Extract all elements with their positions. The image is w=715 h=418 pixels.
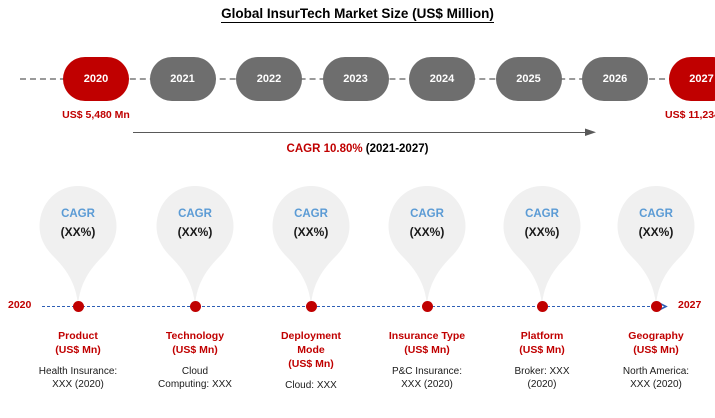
cagr-pin[interactable]: CAGR(XX%) bbox=[385, 183, 469, 305]
axis-marker-dot[interactable] bbox=[190, 301, 201, 312]
segment-axis: 2020 2027 bbox=[0, 298, 715, 320]
map-pin-icon bbox=[614, 183, 698, 305]
pin-text: CAGR(XX%) bbox=[36, 206, 120, 241]
segment-title: Technology(US$ Mn) bbox=[136, 330, 254, 358]
pin-cagr-label: CAGR bbox=[614, 206, 698, 223]
segment-detail: North America:XXX (2020) bbox=[597, 365, 715, 392]
pin-cagr-label: CAGR bbox=[385, 206, 469, 223]
cagr-pin[interactable]: CAGR(XX%) bbox=[36, 183, 120, 305]
timeline-year-2023[interactable]: 2023 bbox=[323, 57, 389, 101]
timeline-year-label: 2021 bbox=[170, 73, 194, 85]
timeline-year-2025[interactable]: 2025 bbox=[496, 57, 562, 101]
cagr-caption: CAGR 10.80% (2021-2027) bbox=[0, 143, 715, 155]
segment-column: Platform(US$ Mn)Broker: XXX(2020) bbox=[483, 330, 601, 392]
timeline-year-2027[interactable]: 2027 bbox=[669, 57, 715, 101]
cagr-arrow-line bbox=[133, 132, 588, 133]
timeline-start-value: US$ 5,480 Mn bbox=[36, 109, 156, 121]
axis-marker-dot[interactable] bbox=[651, 301, 662, 312]
year-timeline: 20202021202220232024202520262027 US$ 5,4… bbox=[0, 53, 715, 128]
pin-text: CAGR(XX%) bbox=[153, 206, 237, 241]
map-pin-icon bbox=[153, 183, 237, 305]
axis-marker-dot[interactable] bbox=[537, 301, 548, 312]
cagr-pin[interactable]: CAGR(XX%) bbox=[153, 183, 237, 305]
pin-cagr-value: (XX%) bbox=[500, 223, 584, 241]
timeline-year-2024[interactable]: 2024 bbox=[409, 57, 475, 101]
timeline-year-label: 2024 bbox=[430, 73, 454, 85]
timeline-year-2020[interactable]: 2020 bbox=[63, 57, 129, 101]
timeline-year-label: 2027 bbox=[689, 73, 713, 85]
segment-title: DeploymentMode(US$ Mn) bbox=[252, 330, 370, 372]
cagr-rate: CAGR 10.80% bbox=[287, 143, 363, 155]
segment-pins: CAGR(XX%)CAGR(XX%)CAGR(XX%)CAGR(XX%)CAGR… bbox=[0, 183, 715, 308]
segment-title: Geography(US$ Mn) bbox=[597, 330, 715, 358]
map-pin-icon bbox=[385, 183, 469, 305]
timeline-year-label: 2025 bbox=[516, 73, 540, 85]
timeline-year-2022[interactable]: 2022 bbox=[236, 57, 302, 101]
cagr-arrowhead-icon bbox=[585, 126, 599, 139]
segment-detail: CloudComputing: XXX bbox=[136, 365, 254, 392]
cagr-pin[interactable]: CAGR(XX%) bbox=[614, 183, 698, 305]
cagr-band: CAGR 10.80% (2021-2027) bbox=[0, 126, 715, 166]
timeline-year-label: 2023 bbox=[343, 73, 367, 85]
axis-dashed-line bbox=[42, 306, 655, 307]
pin-cagr-value: (XX%) bbox=[385, 223, 469, 241]
segment-detail: P&C Insurance:XXX (2020) bbox=[368, 365, 486, 392]
segment-title: Insurance Type(US$ Mn) bbox=[368, 330, 486, 358]
pin-text: CAGR(XX%) bbox=[269, 206, 353, 241]
segment-column: Insurance Type(US$ Mn)P&C Insurance:XXX … bbox=[368, 330, 486, 392]
cagr-pin[interactable]: CAGR(XX%) bbox=[269, 183, 353, 305]
pin-cagr-value: (XX%) bbox=[36, 223, 120, 241]
pin-cagr-value: (XX%) bbox=[614, 223, 698, 241]
cagr-period: (2021-2027) bbox=[366, 143, 429, 155]
timeline-year-2021[interactable]: 2021 bbox=[150, 57, 216, 101]
segment-title: Product(US$ Mn) bbox=[19, 330, 137, 358]
timeline-year-label: 2020 bbox=[84, 73, 108, 85]
timeline-year-label: 2022 bbox=[257, 73, 281, 85]
pin-text: CAGR(XX%) bbox=[500, 206, 584, 241]
map-pin-icon bbox=[36, 183, 120, 305]
page-title: Global InsurTech Market Size (US$ Millio… bbox=[0, 6, 715, 21]
axis-marker-dot[interactable] bbox=[306, 301, 317, 312]
segment-column: DeploymentMode(US$ Mn)Cloud: XXX bbox=[252, 330, 370, 392]
timeline-year-label: 2026 bbox=[603, 73, 627, 85]
pin-cagr-value: (XX%) bbox=[153, 223, 237, 241]
segment-columns: Product(US$ Mn)Health Insurance:XXX (202… bbox=[0, 330, 715, 418]
pin-cagr-label: CAGR bbox=[500, 206, 584, 223]
timeline-end-value: US$ 11,234 Mn bbox=[642, 109, 715, 121]
axis-end-label: 2027 bbox=[678, 299, 701, 311]
pin-text: CAGR(XX%) bbox=[614, 206, 698, 241]
pin-text: CAGR(XX%) bbox=[385, 206, 469, 241]
segment-column: Product(US$ Mn)Health Insurance:XXX (202… bbox=[19, 330, 137, 392]
map-pin-icon bbox=[500, 183, 584, 305]
segment-detail: Broker: XXX(2020) bbox=[483, 365, 601, 392]
axis-marker-dot[interactable] bbox=[73, 301, 84, 312]
axis-marker-dot[interactable] bbox=[422, 301, 433, 312]
segment-detail: Health Insurance:XXX (2020) bbox=[19, 365, 137, 392]
pin-cagr-label: CAGR bbox=[153, 206, 237, 223]
segment-detail: Cloud: XXX bbox=[252, 379, 370, 393]
timeline-year-2026[interactable]: 2026 bbox=[582, 57, 648, 101]
segment-column: Technology(US$ Mn)CloudComputing: XXX bbox=[136, 330, 254, 392]
pin-cagr-label: CAGR bbox=[36, 206, 120, 223]
pin-cagr-label: CAGR bbox=[269, 206, 353, 223]
pin-cagr-value: (XX%) bbox=[269, 223, 353, 241]
page-title-text: Global InsurTech Market Size (US$ Millio… bbox=[221, 6, 494, 23]
segment-title: Platform(US$ Mn) bbox=[483, 330, 601, 358]
map-pin-icon bbox=[269, 183, 353, 305]
axis-start-label: 2020 bbox=[8, 299, 31, 311]
cagr-pin[interactable]: CAGR(XX%) bbox=[500, 183, 584, 305]
segment-column: Geography(US$ Mn)North America:XXX (2020… bbox=[597, 330, 715, 392]
